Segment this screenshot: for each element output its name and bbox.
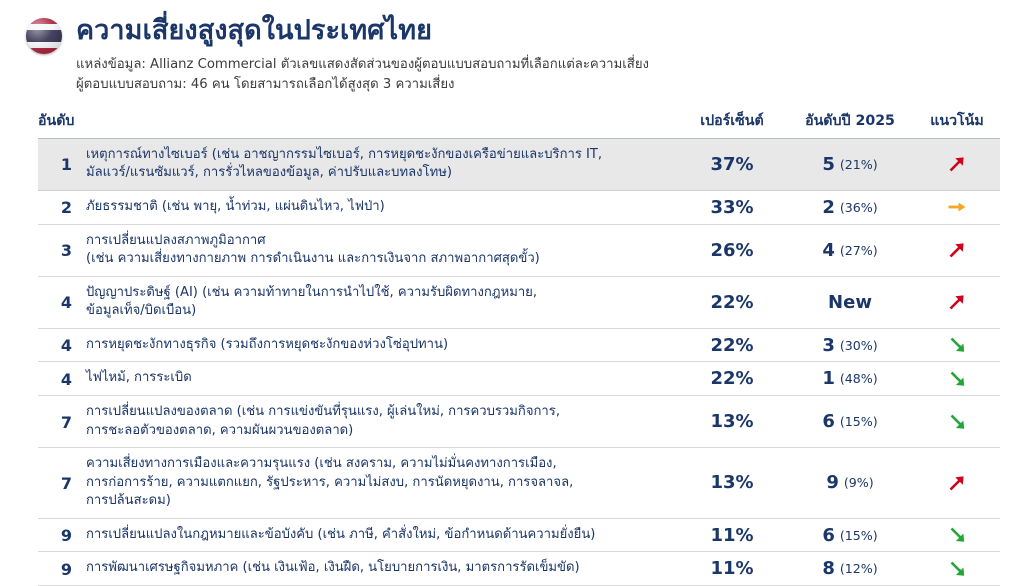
row-prev-rank-cell: 6(15%)	[786, 396, 914, 447]
table-row: 9การเปลี่ยนแปลงในกฎหมายและข้อบังคับ (เช่…	[38, 519, 1000, 553]
row-percent: 22%	[678, 362, 786, 395]
row-risk-label-line: การเปลี่ยนแปลงในกฎหมายและข้อบังคับ (เช่น…	[86, 526, 668, 545]
table-row: 4การหยุดชะงักทางธุรกิจ (รวมถึงการหยุดชะง…	[38, 329, 1000, 363]
row-prev-percent: (9%)	[844, 475, 874, 490]
row-risk-label: ปัญญาประดิษฐ์ (AI) (เช่น ความท้าทายในการ…	[72, 277, 678, 328]
table-body: 1เหตุการณ์ทางไซเบอร์ (เช่น อาชญากรรมไซเบ…	[38, 139, 1000, 586]
row-prev-percent: (48%)	[840, 371, 878, 386]
row-prev-rank-cell: 6(15%)	[786, 519, 914, 552]
row-rank: 7	[38, 448, 72, 518]
row-percent: 33%	[678, 191, 786, 224]
column-header-prev-rank: อันดับปี 2025	[786, 110, 914, 132]
row-risk-label-line: ความเสี่ยงทางการเมืองและความรุนแรง (เช่น…	[86, 455, 668, 474]
subtitle-line-2: ผู้ตอบแบบสอบถาม: 46 คน โดยสามารถเลือกได้…	[76, 75, 649, 94]
row-rank: 4	[38, 329, 72, 362]
row-risk-label-line: การก่อการร้าย, ความแตกแยก, รัฐประหาร, คว…	[86, 474, 668, 493]
row-rank: 9	[38, 552, 72, 585]
arrow-up-right-icon	[914, 139, 1000, 190]
page-header: ความเสี่ยงสูงสุดในประเทศไทย แหล่งข้อมูล:…	[0, 0, 1024, 94]
row-risk-label-line: การเปลี่ยนแปลงของตลาด (เช่น การแข่งขันที…	[86, 403, 668, 422]
arrow-up-right-icon	[914, 277, 1000, 328]
row-risk-label: การเปลี่ยนแปลงในกฎหมายและข้อบังคับ (เช่น…	[72, 519, 678, 552]
page-title: ความเสี่ยงสูงสุดในประเทศไทย	[76, 16, 649, 46]
row-rank: 7	[38, 396, 72, 447]
table-row: 1เหตุการณ์ทางไซเบอร์ (เช่น อาชญากรรมไซเบ…	[38, 139, 1000, 191]
row-percent: 13%	[678, 396, 786, 447]
row-prev-percent: (15%)	[840, 528, 878, 543]
table-row: 4ไฟไหม้, การระเบิด22%1(48%)	[38, 362, 1000, 396]
row-percent: 37%	[678, 139, 786, 190]
row-prev-rank-cell: 3(30%)	[786, 329, 914, 362]
column-header-trend: แนวโน้ม	[914, 110, 1000, 132]
row-risk-label-line: การปล้นสะดม)	[86, 492, 668, 511]
arrow-up-right-icon	[914, 225, 1000, 276]
row-prev-percent: (36%)	[840, 200, 878, 215]
row-risk-label-line: มัลแวร์/แรนซัมแวร์, การรั่วไหลของข้อมูล,…	[86, 164, 668, 183]
arrow-down-right-icon	[914, 552, 1000, 585]
row-risk-label: การหยุดชะงักทางธุรกิจ (รวมถึงการหยุดชะงั…	[72, 329, 678, 362]
row-percent: 13%	[678, 448, 786, 518]
row-risk-label-line: (เช่น ความเสี่ยงทางกายภาพ การดำเนินงาน แ…	[86, 250, 668, 269]
row-prev-rank-cell: 8(12%)	[786, 552, 914, 585]
row-risk-label-line: ภัยธรรมชาติ (เช่น พายุ, น้ำท่วม, แผ่นดิน…	[86, 198, 668, 217]
row-risk-label-line: ข้อมูลเท็จ/บิดเบือน)	[86, 302, 668, 321]
row-risk-label-line: เหตุการณ์ทางไซเบอร์ (เช่น อาชญากรรมไซเบอ…	[86, 146, 668, 165]
risk-table: อันดับ เปอร์เซ็นต์ อันดับปี 2025 แนวโน้ม…	[38, 110, 1000, 586]
arrow-down-right-icon	[914, 362, 1000, 395]
row-prev-rank: 6	[822, 411, 835, 432]
row-prev-percent: (21%)	[840, 157, 878, 172]
row-rank: 2	[38, 191, 72, 224]
row-risk-label-line: ปัญญาประดิษฐ์ (AI) (เช่น ความท้าทายในการ…	[86, 284, 668, 303]
row-prev-rank-cell: 5(21%)	[786, 139, 914, 190]
row-risk-label-line: การชะลอตัวของตลาด, ความผันผวนของตลาด)	[86, 422, 668, 441]
row-percent: 11%	[678, 552, 786, 585]
table-row: 4ปัญญาประดิษฐ์ (AI) (เช่น ความท้าทายในกา…	[38, 277, 1000, 329]
row-rank: 9	[38, 519, 72, 552]
row-rank: 3	[38, 225, 72, 276]
row-prev-rank-cell: New	[786, 277, 914, 328]
table-row: 7การเปลี่ยนแปลงของตลาด (เช่น การแข่งขันท…	[38, 396, 1000, 448]
thailand-flag-circle-icon	[26, 18, 62, 54]
column-header-rank: อันดับ	[38, 110, 86, 132]
row-prev-rank-cell: 4(27%)	[786, 225, 914, 276]
row-prev-percent: (27%)	[840, 243, 878, 258]
row-prev-rank-cell: 9(9%)	[786, 448, 914, 518]
row-percent: 11%	[678, 519, 786, 552]
table-row: 7ความเสี่ยงทางการเมืองและความรุนแรง (เช่…	[38, 448, 1000, 519]
row-risk-label: ภัยธรรมชาติ (เช่น พายุ, น้ำท่วม, แผ่นดิน…	[72, 191, 678, 224]
row-risk-label-line: การพัฒนาเศรษฐกิจมหภาค (เช่น เงินเฟ้อ, เง…	[86, 559, 668, 578]
row-risk-label: ความเสี่ยงทางการเมืองและความรุนแรง (เช่น…	[72, 448, 678, 518]
row-risk-label-line: การเปลี่ยนแปลงสภาพภูมิอากาศ	[86, 232, 668, 251]
row-prev-rank: 2	[822, 197, 835, 218]
page-subtitle: แหล่งข้อมูล: Allianz Commercial ตัวเลขแส…	[76, 55, 649, 94]
row-prev-rank: 8	[822, 558, 835, 579]
row-prev-rank-cell: 1(48%)	[786, 362, 914, 395]
row-prev-percent: (30%)	[840, 338, 878, 353]
row-prev-rank: 4	[822, 240, 835, 261]
table-row: 3การเปลี่ยนแปลงสภาพภูมิอากาศ(เช่น ความเส…	[38, 225, 1000, 277]
arrow-down-right-icon	[914, 396, 1000, 447]
row-risk-label-line: การหยุดชะงักทางธุรกิจ (รวมถึงการหยุดชะงั…	[86, 336, 668, 355]
header-text-block: ความเสี่ยงสูงสุดในประเทศไทย แหล่งข้อมูล:…	[76, 16, 649, 94]
row-rank: 1	[38, 139, 72, 190]
row-prev-percent: (12%)	[840, 561, 878, 576]
table-header-row: อันดับ เปอร์เซ็นต์ อันดับปี 2025 แนวโน้ม	[38, 110, 1000, 139]
arrow-down-right-icon	[914, 519, 1000, 552]
row-rank: 4	[38, 277, 72, 328]
row-prev-rank: New	[828, 292, 872, 313]
subtitle-line-1: แหล่งข้อมูล: Allianz Commercial ตัวเลขแส…	[76, 55, 649, 74]
arrow-up-right-icon	[914, 448, 1000, 518]
table-row: 9การพัฒนาเศรษฐกิจมหภาค (เช่น เงินเฟ้อ, เ…	[38, 552, 1000, 586]
arrow-down-right-icon	[914, 329, 1000, 362]
row-risk-label-line: ไฟไหม้, การระเบิด	[86, 369, 668, 388]
row-risk-label: การเปลี่ยนแปลงของตลาด (เช่น การแข่งขันที…	[72, 396, 678, 447]
row-risk-label: เหตุการณ์ทางไซเบอร์ (เช่น อาชญากรรมไซเบอ…	[72, 139, 678, 190]
row-risk-label: การเปลี่ยนแปลงสภาพภูมิอากาศ(เช่น ความเสี…	[72, 225, 678, 276]
row-prev-rank: 9	[826, 472, 839, 493]
row-percent: 22%	[678, 277, 786, 328]
row-prev-rank: 5	[822, 154, 835, 175]
row-prev-rank: 6	[822, 525, 835, 546]
row-risk-label: การพัฒนาเศรษฐกิจมหภาค (เช่น เงินเฟ้อ, เง…	[72, 552, 678, 585]
row-rank: 4	[38, 362, 72, 395]
arrow-right-icon	[914, 191, 1000, 224]
row-prev-percent: (15%)	[840, 414, 878, 429]
risk-ranking-page: ความเสี่ยงสูงสุดในประเทศไทย แหล่งข้อมูล:…	[0, 0, 1024, 537]
row-percent: 26%	[678, 225, 786, 276]
row-risk-label: ไฟไหม้, การระเบิด	[72, 362, 678, 395]
row-prev-rank: 3	[822, 335, 835, 356]
row-prev-rank-cell: 2(36%)	[786, 191, 914, 224]
row-prev-rank: 1	[822, 368, 835, 389]
table-row: 2ภัยธรรมชาติ (เช่น พายุ, น้ำท่วม, แผ่นดิ…	[38, 191, 1000, 225]
column-header-percent: เปอร์เซ็นต์	[678, 110, 786, 132]
row-percent: 22%	[678, 329, 786, 362]
